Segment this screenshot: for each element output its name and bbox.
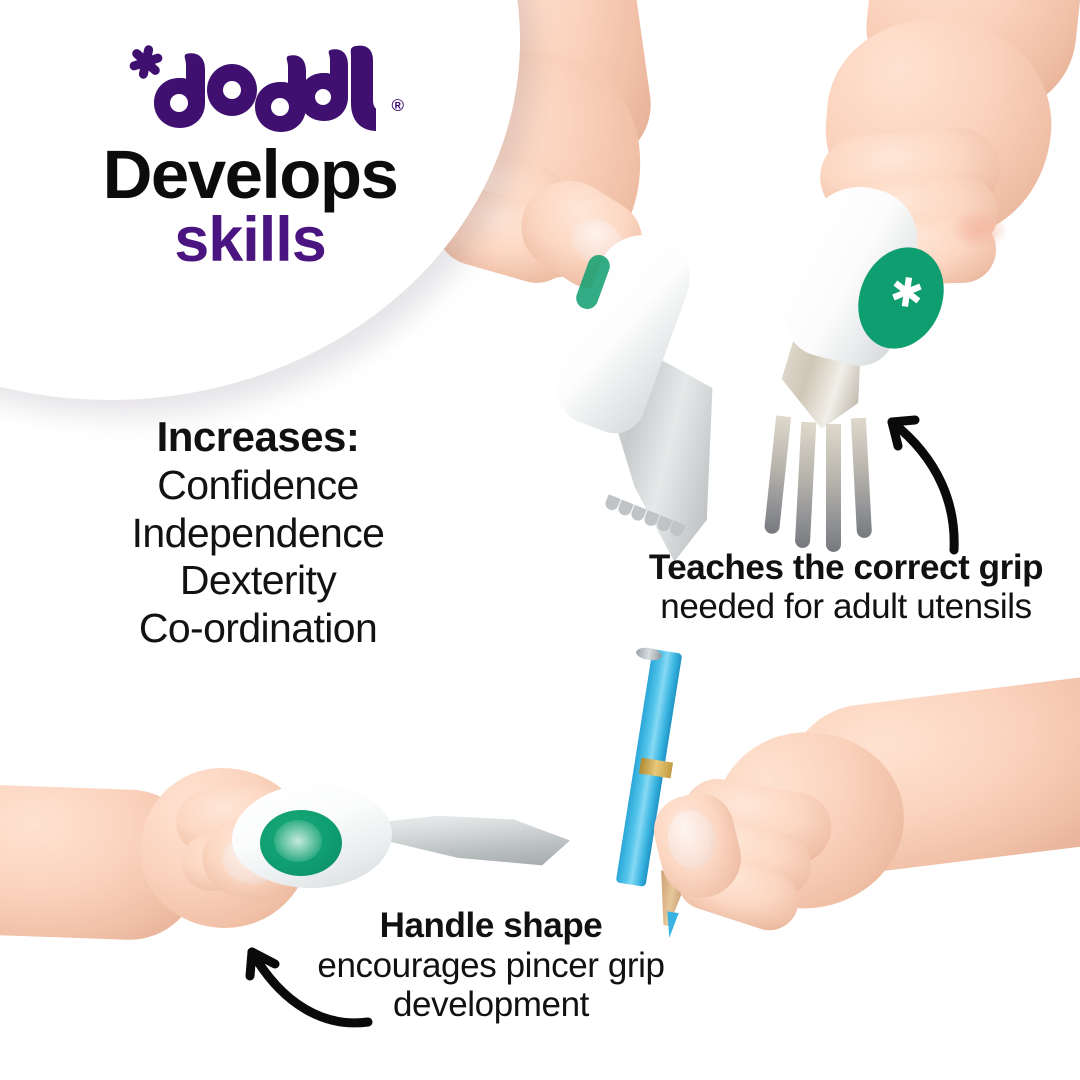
caption-handle-bold: Handle shape	[380, 906, 603, 945]
doddl-logo-mark-white: ✱	[876, 271, 925, 319]
doddl-wordmark-icon	[108, 42, 376, 134]
caption-grip-regular: needed for adult utensils	[660, 587, 1031, 626]
brand-logo: ®	[92, 42, 392, 134]
headline-line-2: skills	[60, 210, 440, 270]
fork-tine	[795, 422, 817, 549]
increases-heading: Increases:	[58, 412, 458, 462]
child-hand-holding-pencil-photo	[636, 690, 1080, 970]
increases-list: Increases: Confidence Independence Dexte…	[58, 412, 458, 653]
knuckle-highlight	[950, 210, 1008, 250]
curved-arrow-up-left-icon	[856, 398, 1046, 568]
increases-item-independence: Independence	[58, 510, 458, 558]
increases-item-dexterity: Dexterity	[58, 557, 458, 605]
toddler-spoon-photo	[232, 778, 572, 898]
increases-item-confidence: Confidence	[58, 462, 458, 510]
spoon-green-highlight	[274, 820, 322, 862]
page-title: Develops skills	[60, 142, 440, 271]
curved-arrow-up-left-icon	[228, 936, 408, 1046]
increases-item-coordination: Co-ordination	[58, 605, 458, 653]
spoon-bowl	[370, 812, 570, 874]
registered-trademark-symbol: ®	[391, 96, 404, 116]
fork-tine	[826, 424, 841, 552]
headline-line-1: Develops	[60, 142, 440, 208]
spoon-green-accent	[260, 810, 342, 876]
fork-tine	[764, 416, 791, 535]
infographic-canvas: ✱	[0, 0, 1080, 1080]
spoon-handle	[232, 784, 392, 888]
